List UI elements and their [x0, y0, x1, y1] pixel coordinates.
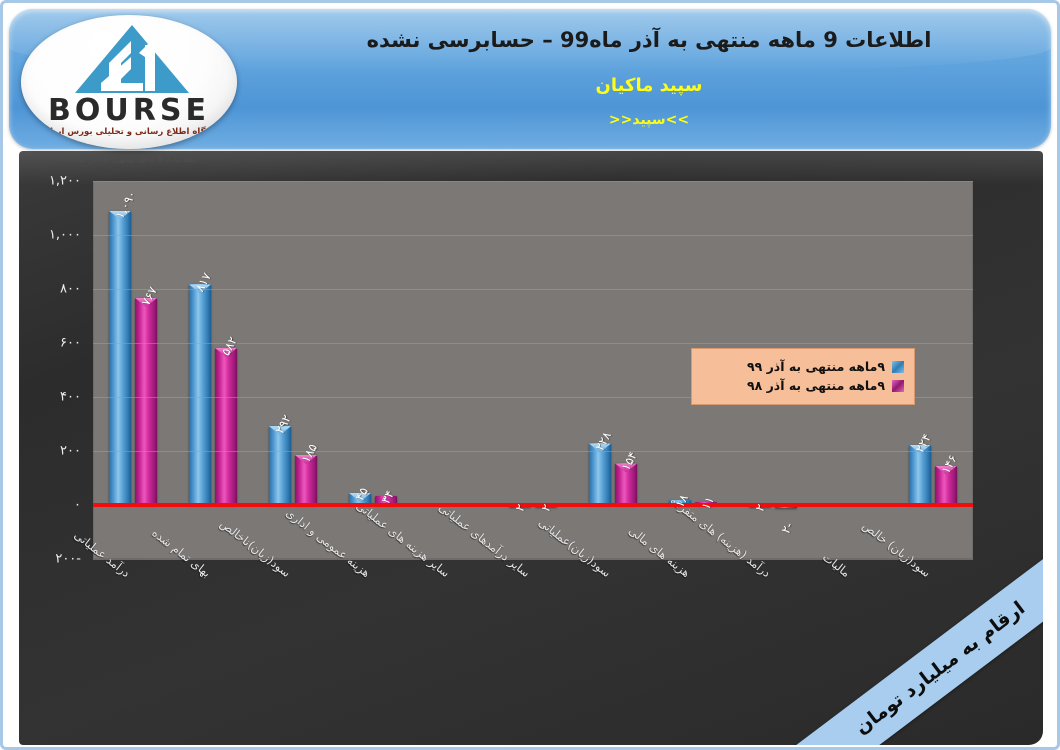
legend-item-series-1[interactable]: ۹ماهه منتهی به آذر ۹۹ — [702, 359, 904, 374]
bar-series-1[interactable] — [589, 443, 611, 505]
logo-triangle-icon — [73, 23, 191, 95]
bar-series-2[interactable] — [215, 348, 237, 505]
y-axis-tick: ۴۰۰ — [60, 390, 81, 405]
gridline — [93, 289, 973, 290]
y-axis-tick: ۲۰۰ — [60, 444, 81, 459]
legend-swatch-blue-icon — [892, 361, 904, 373]
page-title: اطلاعات 9 ماهه منتهی به آذر ماه99 – حساب… — [269, 17, 1029, 57]
chart-legend: ۹ماهه منتهی به آذر ۹۹ ۹ماهه منتهی به آذر… — [691, 348, 915, 405]
gridline — [93, 181, 973, 182]
bourse24-logo: BOURSE پایگاه اطلاع رسانی و تحلیلی بورس … — [21, 15, 237, 149]
y-axis-tick: ۸۰۰ — [60, 282, 81, 297]
gridline — [93, 235, 973, 236]
legend-label-series-2: ۹ماهه منتهی به آذر ۹۸ — [747, 378, 885, 393]
chart-page: اطلاعات 9 ماهه منتهی به آذر ماه99 – حساب… — [0, 0, 1060, 750]
logo-tagline: پایگاه اطلاع رسانی و تحلیلی بورس ایران — [21, 127, 237, 137]
bar-series-1[interactable] — [109, 211, 131, 505]
bar-series-2[interactable] — [135, 298, 157, 505]
logo-wordmark: BOURSE — [21, 93, 237, 128]
legend-item-series-2[interactable]: ۹ماهه منتهی به آذر ۹۸ — [702, 378, 904, 393]
bar-value-label: -۲ — [778, 519, 795, 535]
legend-swatch-pink-icon — [892, 380, 904, 392]
header-text-block: اطلاعات 9 ماهه منتهی به آذر ماه99 – حساب… — [269, 17, 1029, 128]
y-axis-tick: ۱,۲۰۰ — [49, 174, 81, 189]
y-axis-tick: ۶۰۰ — [60, 336, 81, 351]
bar-value-label: ۱۱ — [698, 494, 716, 512]
legend-label-series-1: ۹ماهه منتهی به آذر ۹۹ — [747, 359, 885, 374]
bar-series-1[interactable] — [189, 284, 211, 505]
bar-series-1[interactable] — [269, 426, 291, 505]
y-axis-tick: ۰ — [74, 498, 81, 513]
ticker-symbol: >>سپید<< — [269, 112, 1029, 128]
company-name: سپید ماکیان — [269, 75, 1029, 96]
gridline — [93, 451, 973, 452]
bar-value-label: ۱,۰۹۰ — [112, 188, 138, 221]
y-axis-tick: ۱,۰۰۰ — [49, 228, 81, 243]
chart-frame: اطلاعات 9 ماهه منتهی به آذر ماه 99 ۱,۲۰۰… — [19, 151, 1043, 745]
chart-ghost-caption: اطلاعات 9 ماهه منتهی به آذر ماه 99 — [59, 156, 197, 165]
bar-series-1[interactable] — [909, 445, 931, 505]
zero-axis-line — [93, 503, 973, 507]
